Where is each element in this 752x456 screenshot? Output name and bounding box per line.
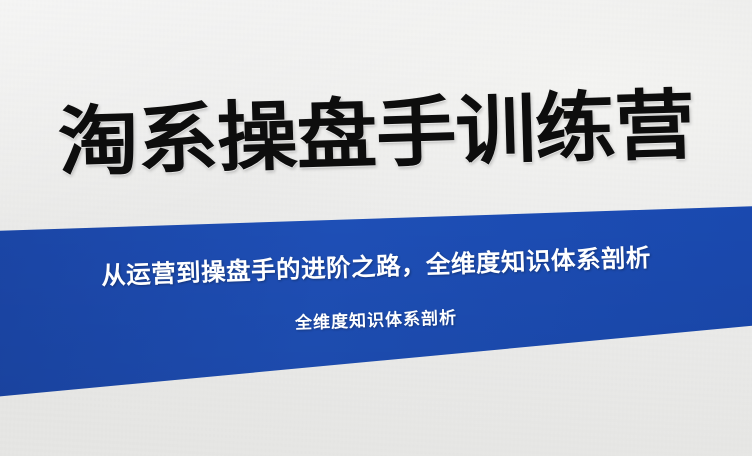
course-poster: 淘系操盘手训练营 从运营到操盘手的进阶之路，全维度知识体系剖析 全维度知识体系剖…: [0, 0, 752, 456]
page-title: 淘系操盘手训练营: [0, 86, 752, 183]
blue-banner: [0, 0, 752, 456]
page-title-text: 淘系操盘手训练营: [57, 87, 695, 181]
